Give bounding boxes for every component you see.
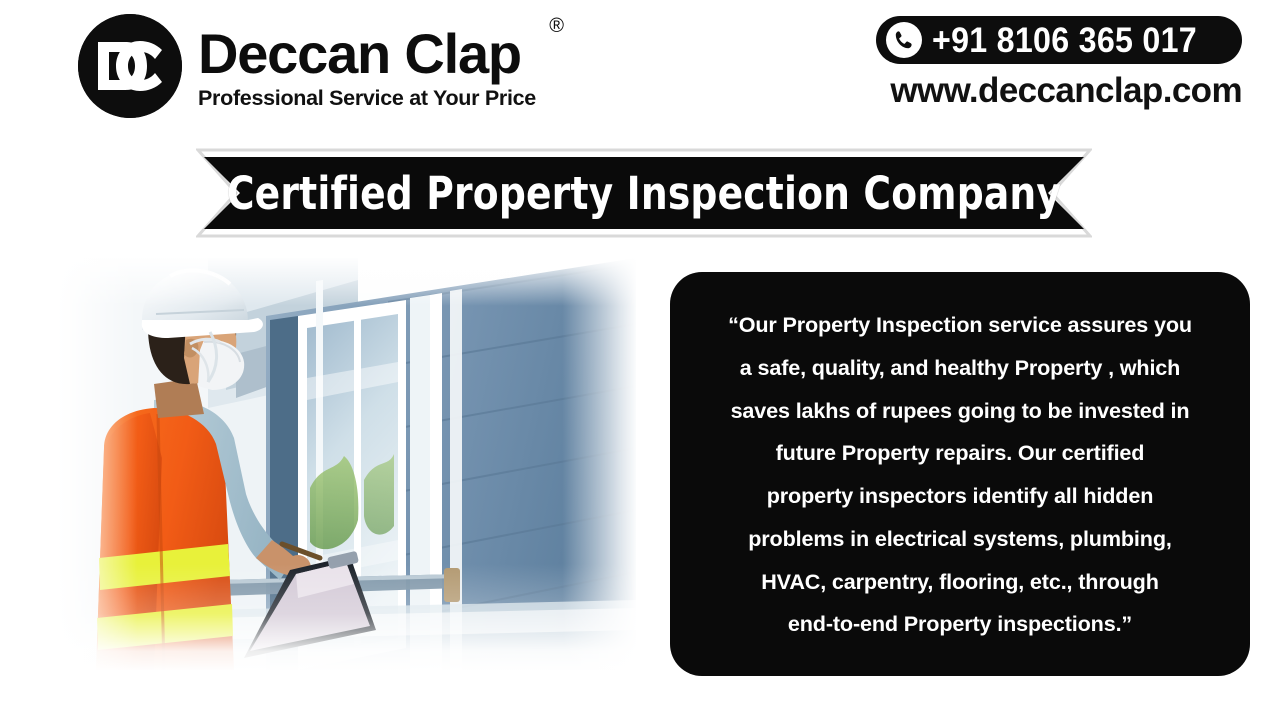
phone-number-pill[interactable]: +91 8106 365 017	[876, 16, 1242, 64]
brand-name: Deccan Clap	[198, 26, 536, 82]
inspector-photo	[58, 258, 636, 670]
quote-text: “Our Property Inspection service assures…	[728, 304, 1192, 646]
quote-card: “Our Property Inspection service assures…	[670, 272, 1250, 676]
phone-number: +91 8106 365 017	[932, 23, 1197, 58]
photo-scene	[58, 258, 636, 670]
phone-handset-icon	[886, 22, 922, 58]
header: Deccan Clap ® Professional Service at Yo…	[0, 0, 1280, 140]
headline-title: Certified Property Inspection Company	[227, 148, 1060, 238]
brand-tagline: Professional Service at Your Price	[198, 88, 536, 110]
brand-block[interactable]: Deccan Clap ® Professional Service at Yo…	[78, 14, 536, 118]
dc-monogram-icon	[78, 14, 182, 118]
contact-block: +91 8106 365 017 www.deccanclap.com	[876, 16, 1242, 110]
brand-wordmark-column: Deccan Clap ® Professional Service at Yo…	[198, 14, 536, 110]
headline-ribbon: Certified Property Inspection Company	[196, 148, 1092, 238]
registered-trademark-icon: ®	[549, 16, 564, 36]
website-url[interactable]: www.deccanclap.com	[876, 72, 1242, 110]
photo-illustration	[58, 258, 636, 670]
